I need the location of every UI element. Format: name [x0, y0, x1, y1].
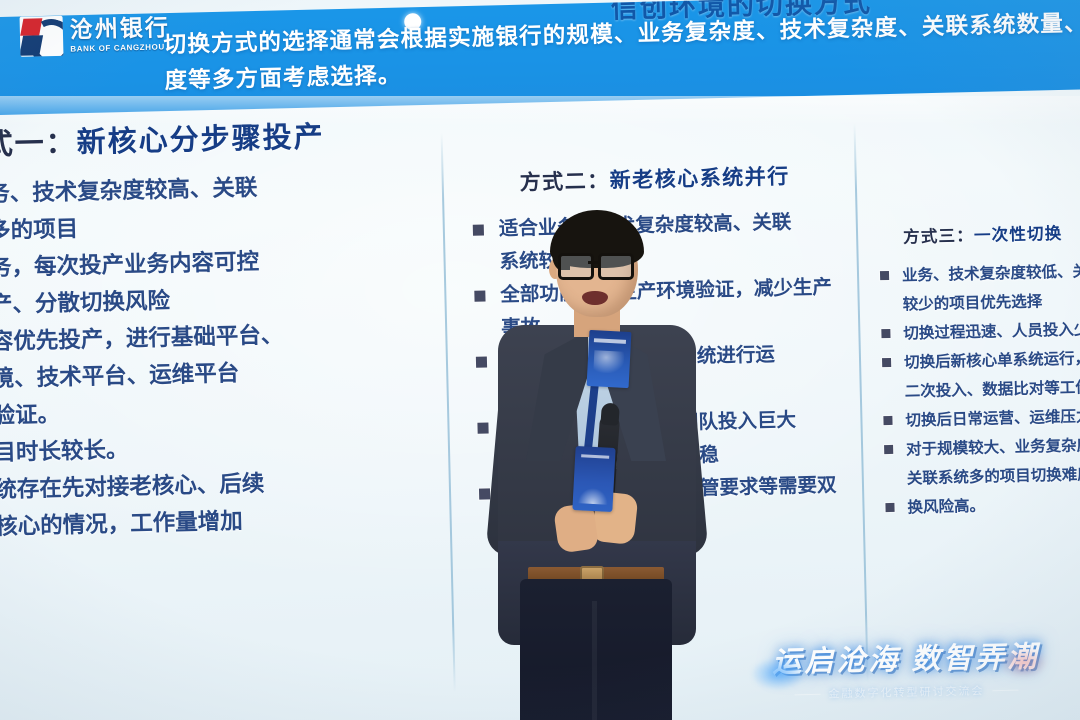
bank-name-en: BANK OF CANGZHOU [70, 43, 170, 53]
bullet-text: 切换后日常运营、运维压力小 [905, 408, 1080, 430]
list-item: 切换过程迅速、人员投入少 [867, 313, 1080, 349]
list-item: 适合业务、技术复杂度较高、关联 系统较多的项目 [0, 165, 433, 251]
speaker-trousers [520, 579, 672, 720]
watermark-glow-right [1000, 647, 1049, 678]
bullet-text: 适合业务、技术复杂度较高、关联 [0, 175, 258, 208]
bullet-text: 非生产验证。 [0, 402, 60, 430]
square-bullet-icon [883, 416, 892, 425]
event-watermark: 运启沧海 数智弄潮 金融数字化转型研讨交流会 [755, 633, 1056, 703]
column-2-title: 方式二：新老核心系统并行 [519, 160, 790, 196]
column-1-title-label: 方式一： [0, 127, 77, 162]
event-subtitle: 金融数字化转型研讨交流会 [828, 682, 984, 701]
column-1-bullets: 适合业务、技术复杂度较高、关联 系统较多的项目 拆分业务，每次投产业务内容可控 … [0, 165, 440, 547]
bullet-text-wrap: 对接新核心的情况，工作量增加 [0, 498, 440, 547]
list-item: 部分内容优先投产，进行基础平台、 硬件环境、技术平台、运维平台 [0, 313, 437, 399]
bullet-text: 部分内容优先投产，进行基础平台、 [0, 322, 284, 355]
bullet-text: 切换后新核心单系统运行，无需 [904, 350, 1080, 372]
conference-photo: 信创环境的切换方式 切换方式的选择通常会根据实施银行的规模、业务复杂度、技术复杂… [0, 0, 1080, 720]
column-3-title-value: 一次性切换 [974, 225, 1063, 245]
list-item: 业务、技术复杂度较低、关联系统 较少的项目优先选择 [866, 255, 1080, 320]
speaker-badge [572, 446, 615, 512]
square-bullet-icon [880, 271, 889, 280]
eyeglasses-icon [558, 253, 634, 275]
square-bullet-icon [882, 358, 891, 367]
bullet-text: 换风险高。 [907, 498, 985, 517]
bullet-text: 部分系统存在先对接老核心、后续 [0, 471, 265, 504]
list-item: 部分系统存在先对接老核心、后续 对接新核心的情况，工作量增加 [0, 461, 440, 547]
bullet-text: 拆分业务，每次投产业务内容可控 [0, 249, 259, 282]
slide-column-3: 方式三：一次性切换 业务、技术复杂度较低、关联系统 较少的项目优先选择 切换过程… [865, 217, 1080, 224]
bank-name-cn: 沧州银行 [70, 16, 171, 41]
speaker-figure [470, 205, 730, 720]
square-bullet-icon [884, 445, 893, 454]
list-item: 对于规模较大、业务复杂度高、 关联系统多的项目切换难度大、切 [870, 429, 1080, 494]
slide-header-line-2: 度等多方面考虑选择。 [164, 58, 402, 96]
column-3-bullets: 业务、技术复杂度较低、关联系统 较少的项目优先选择 切换过程迅速、人员投入少 切… [866, 255, 1080, 523]
list-item: 切换后日常运营、运维压力小 [869, 400, 1080, 436]
bullet-text: 业务、技术复杂度较低、关联系统 [902, 262, 1080, 284]
column-3-title-label: 方式三： [903, 227, 974, 247]
bullet-text: 多次投产、分散切换风险 [0, 288, 170, 319]
rule-right [992, 689, 1018, 691]
bullet-text-wrap: 二次投入、数据比对等工作 [904, 371, 1080, 406]
microphone-flag [587, 330, 632, 388]
bank-logo: 沧州银行 BANK OF CANGZHOU [19, 10, 172, 60]
watermark-glow-left [750, 656, 807, 691]
bullet-text: 对于规模较大、业务复杂度高、 [906, 436, 1080, 458]
column-divider-1 [441, 132, 456, 692]
square-bullet-icon [881, 329, 890, 338]
column-1-title-value: 新核心分步骤投产 [76, 121, 325, 159]
column-1-title: 方式一：新核心分步骤投产 [0, 113, 325, 164]
column-2-title-value: 新老核心系统并行 [609, 165, 789, 192]
bullet-text-wrap: 关联系统多的项目切换难度大、切 [907, 458, 1080, 493]
slide-column-2: 方式二：新老核心系统并行 适合业务、技术复杂度较高、关联 系统较多的项目 全部功… [453, 159, 853, 168]
bank-logo-mark-icon [20, 16, 64, 57]
list-item: 换风险高。 [871, 487, 1080, 523]
column-2-title-label: 方式二： [520, 170, 611, 195]
square-bullet-icon [885, 503, 894, 512]
rule-left [795, 693, 821, 695]
bullet-text: 整体项目时长较长。 [0, 437, 129, 467]
list-item: 切换后新核心单系统运行，无需 二次投入、数据比对等工作 [868, 342, 1080, 407]
bullet-text: 切换过程迅速、人员投入少 [903, 321, 1080, 342]
bullet-text-wrap: 较少的项目优先选择 [902, 284, 1080, 319]
column-3-title: 方式三：一次性切换 [903, 220, 1063, 248]
